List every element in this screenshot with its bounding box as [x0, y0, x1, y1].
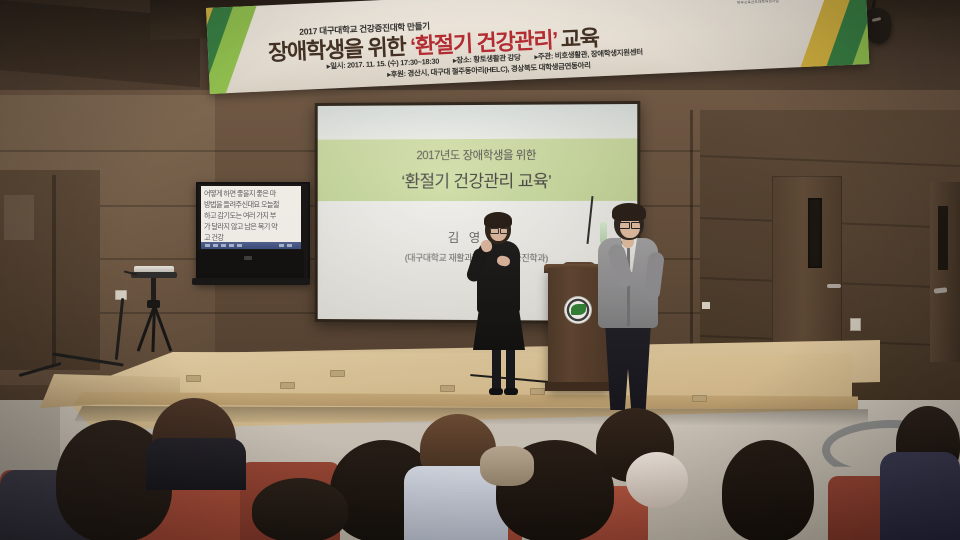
podium-base: [545, 382, 613, 391]
caption-line: 가 달라지 않고 남은 복기 약: [204, 222, 277, 232]
door-main[interactable]: [772, 176, 842, 360]
audience-head: [722, 440, 814, 540]
interpreter-leg: [506, 348, 515, 390]
interpreter-shoe: [504, 388, 518, 395]
stage-floor-plate: [280, 382, 295, 389]
slide-line-1: 2017년도 장애학생을 위한: [318, 146, 638, 163]
stage-floor-plate: [330, 370, 345, 377]
stage-floor-plate: [440, 385, 455, 392]
door-vision-panel: [808, 198, 822, 268]
audience-head: [252, 478, 348, 540]
caption-line: 어떻게 하면 좋을지 좋은 마: [204, 189, 276, 199]
caption-monitor-screen: 어떻게 하면 좋을지 좋은 마 방법을 들려주신대요 오늘절 하고 감기도는 여…: [201, 186, 301, 248]
left-door-vision-panel: [4, 195, 34, 240]
monitor-brand-logo: [244, 256, 252, 260]
door-secondary-vision-panel: [938, 206, 948, 270]
stage-floor-plate: [692, 395, 707, 402]
light-switch[interactable]: [850, 318, 861, 331]
stage-floor-plate: [530, 388, 545, 395]
slide-top-area: [318, 104, 638, 140]
interpreter-shoe: [489, 388, 503, 395]
audience-fur-hood: [626, 452, 688, 508]
interpreter-leg: [492, 348, 501, 390]
door-handle[interactable]: [827, 284, 841, 288]
caption-line: 하고 감기도는 여러 가지 부: [204, 211, 276, 221]
wall-switch-left[interactable]: [702, 302, 710, 309]
photo-scene: ACE++ 학부교육선도대학육성사업 LINC+ 2017 대구대학교 건강증진…: [0, 0, 960, 540]
university-emblem-icon: [564, 296, 592, 324]
slide-line-2: ‘환절기 건강관리 교육’: [318, 167, 638, 193]
interpreter-hair: [484, 212, 512, 228]
speaker-glasses-icon: [619, 222, 640, 227]
interpreter-glasses-icon: [490, 228, 507, 232]
stage-floor-plate: [186, 375, 201, 382]
linc-logo: LINC+: [785, 0, 814, 1]
audience-coat: [880, 452, 960, 540]
speaker-hair: [612, 203, 646, 221]
caption-monitor-bezel: [198, 250, 304, 280]
caption-monitor-base: [192, 278, 310, 285]
audience-bag: [480, 446, 534, 486]
left-door-edge: [52, 175, 56, 365]
audience-coat: [146, 438, 246, 490]
caption-line: 방법을 들려주신대요 오늘절: [204, 200, 279, 210]
caption-monitor-taskbar[interactable]: [201, 242, 301, 249]
